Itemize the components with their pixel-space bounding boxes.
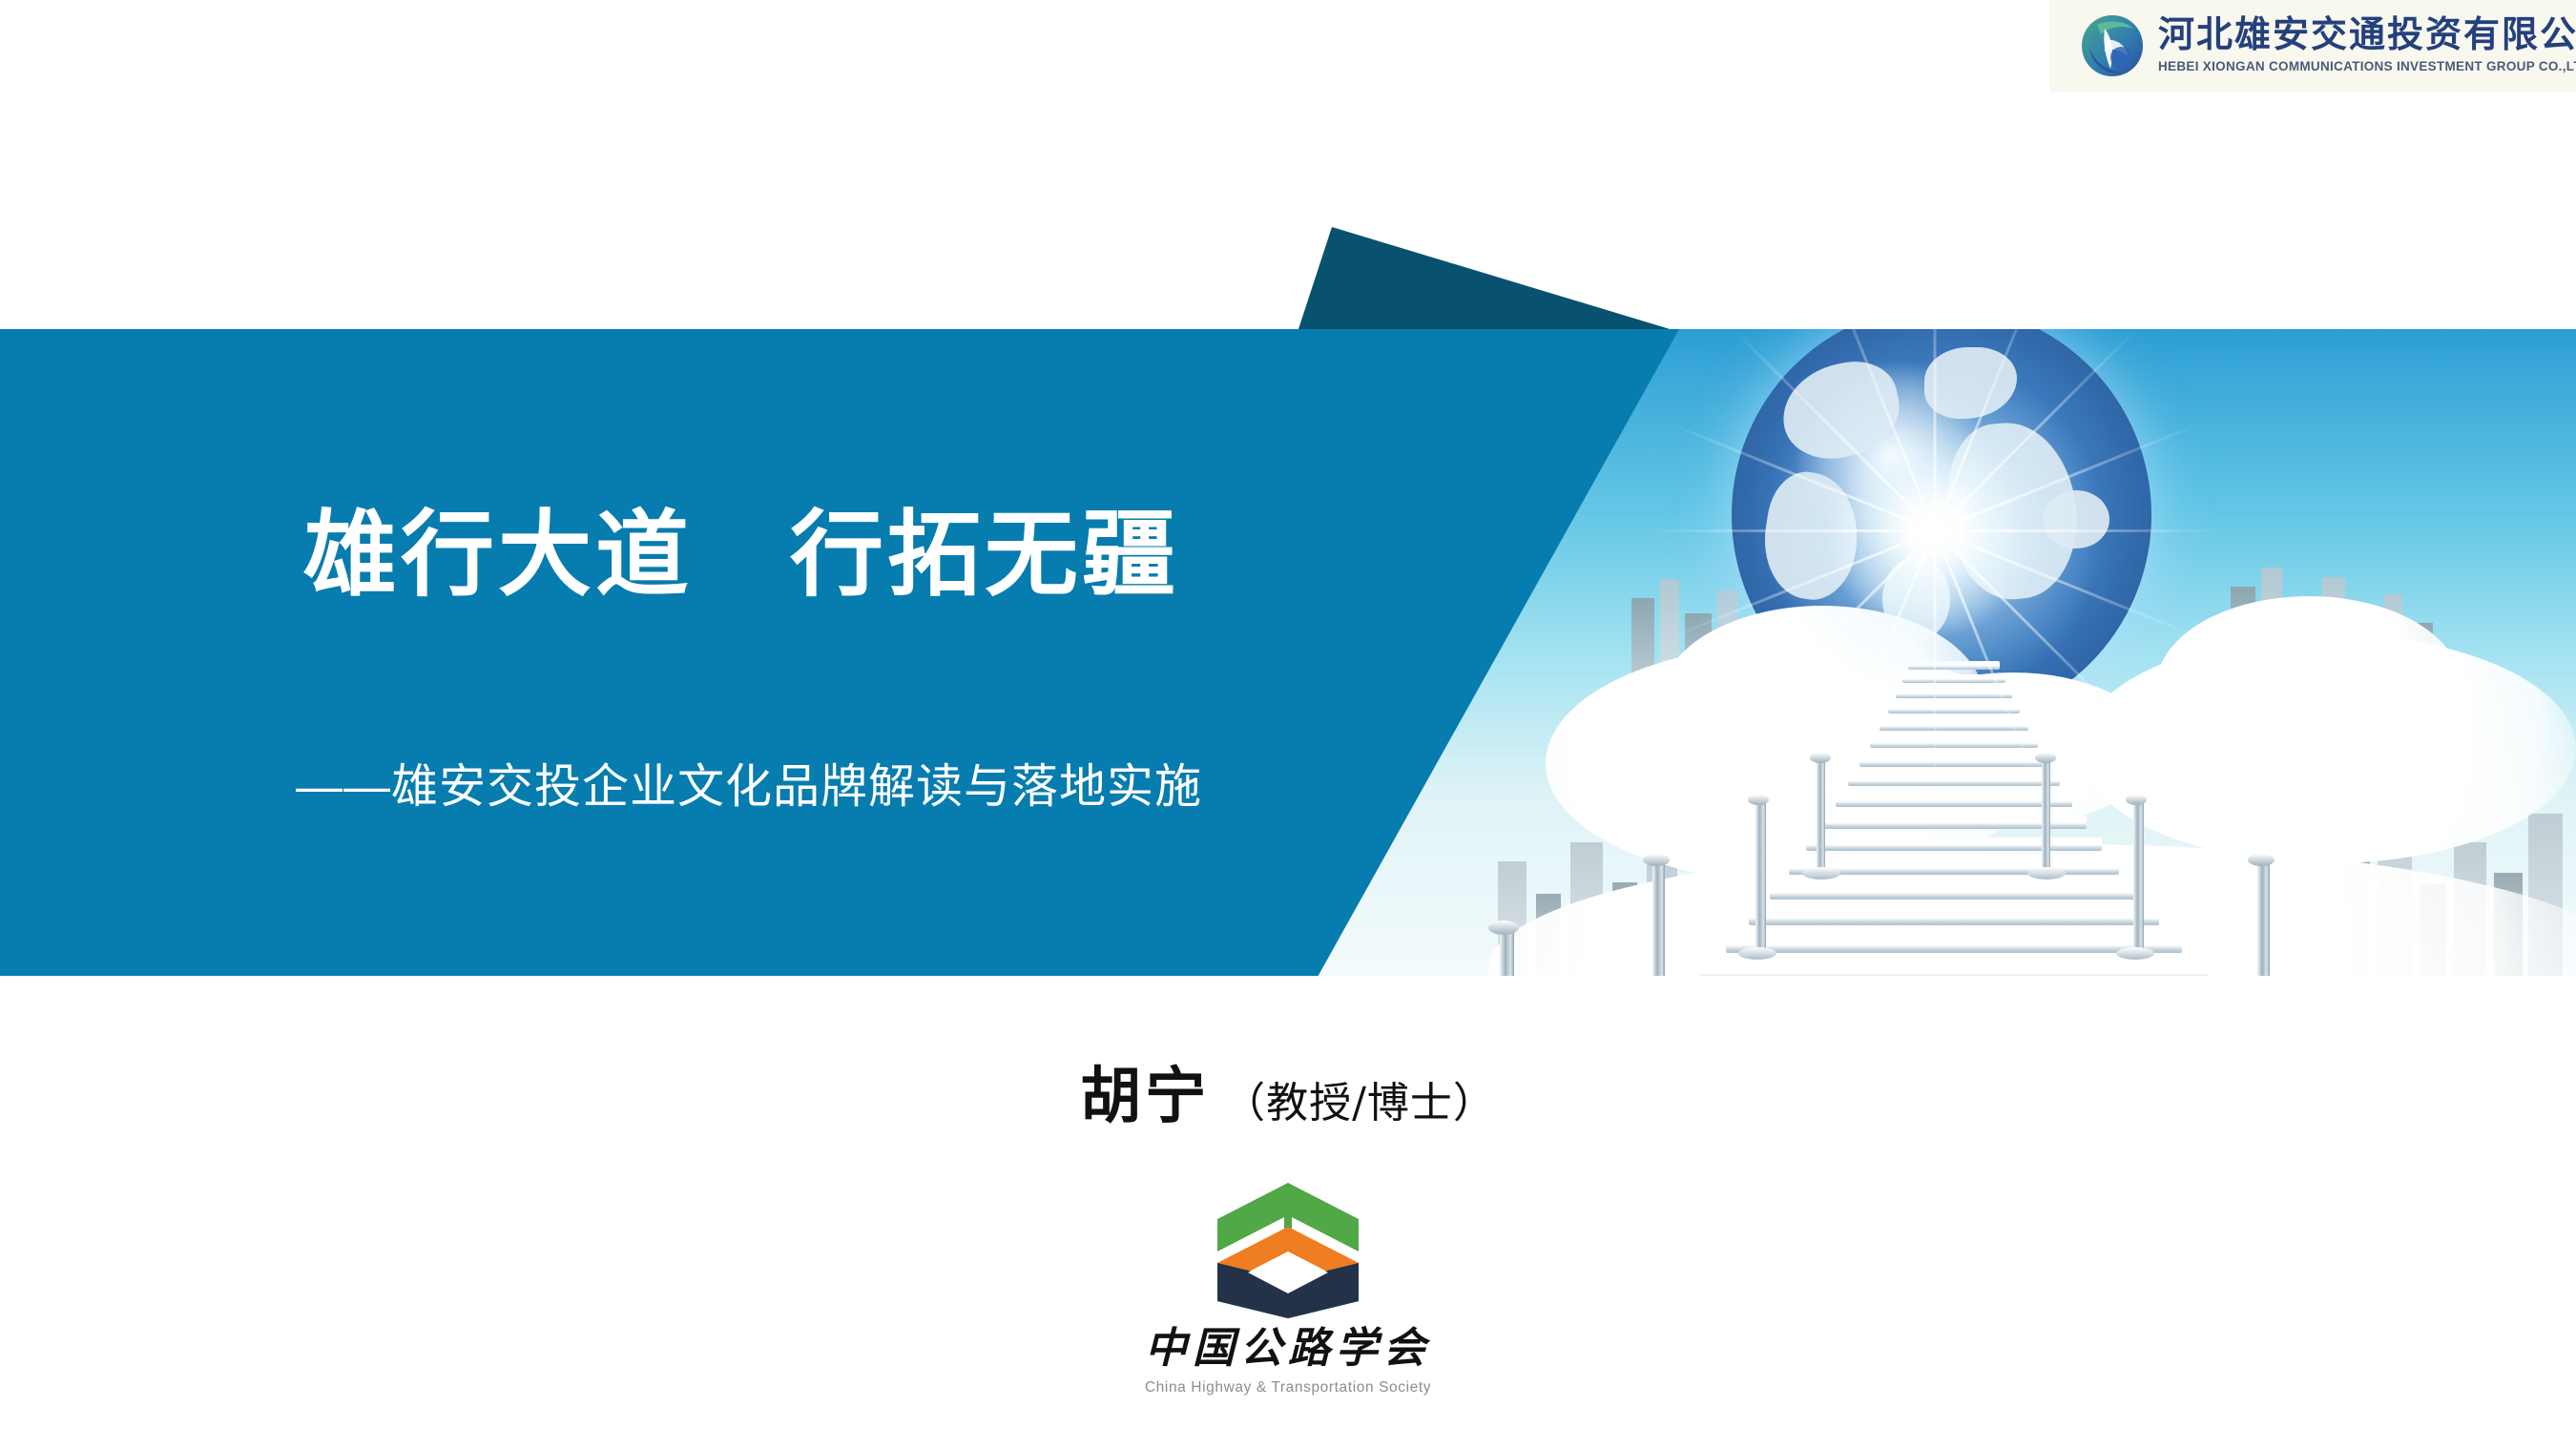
railing-cap-6 [2248, 854, 2275, 866]
railing-cap-7 [1488, 921, 1519, 935]
hero-accent-triangle [1298, 227, 1679, 332]
railing-cap-5 [1643, 854, 1670, 866]
railing-post-7 [1500, 930, 1514, 976]
society-logo: 中国公路学会 China Highway & Transportation So… [0, 1181, 2576, 1396]
page-title: 雄行大道 行拓无疆 [303, 503, 1179, 608]
corporate-name-cn: 河北雄安交通投资有限公司 [2158, 17, 2576, 55]
society-name-cn: 中国公路学会 [1145, 1328, 1431, 1370]
railing-cap-4 [2126, 795, 2147, 805]
railing-base-4 [2116, 947, 2154, 960]
railing-post-4 [2133, 801, 2144, 954]
railing-cap-3 [1748, 795, 1769, 805]
page-subtitle: ——雄安交投企业文化品牌解读与落地实施 [296, 759, 1202, 816]
society-name-en: China Highway & Transportation Society [1145, 1379, 1431, 1396]
railing-post-6 [2257, 861, 2270, 976]
railing-post-2 [2042, 758, 2050, 873]
presenter-block: 胡宁（教授/博士） [0, 1047, 2576, 1135]
corporate-logo: 河北雄安交通投资有限公司 HEBEI XIONGAN COMMUNICATION… [2049, 0, 2576, 92]
hebei-xiongan-globe-emblem-icon [2076, 10, 2149, 82]
railing-base-2 [2027, 867, 2066, 879]
railing-cap-2 [2035, 753, 2056, 763]
railing-cap-1 [1810, 753, 1831, 763]
railing-post-3 [1755, 801, 1766, 954]
china-highway-society-chevron-cube-icon [1215, 1181, 1361, 1320]
railing-base-3 [1738, 947, 1776, 960]
railing-base-1 [1802, 867, 1840, 879]
presenter-credentials: （教授/博士） [1223, 1079, 1496, 1127]
corporate-name-en: HEBEI XIONGAN COMMUNICATIONS INVESTMENT … [2158, 58, 2576, 76]
hero-banner [0, 329, 2576, 976]
railing-post-5 [1652, 861, 1665, 976]
presenter-name: 胡宁 [1080, 1061, 1210, 1132]
railing-post-1 [1817, 758, 1825, 873]
